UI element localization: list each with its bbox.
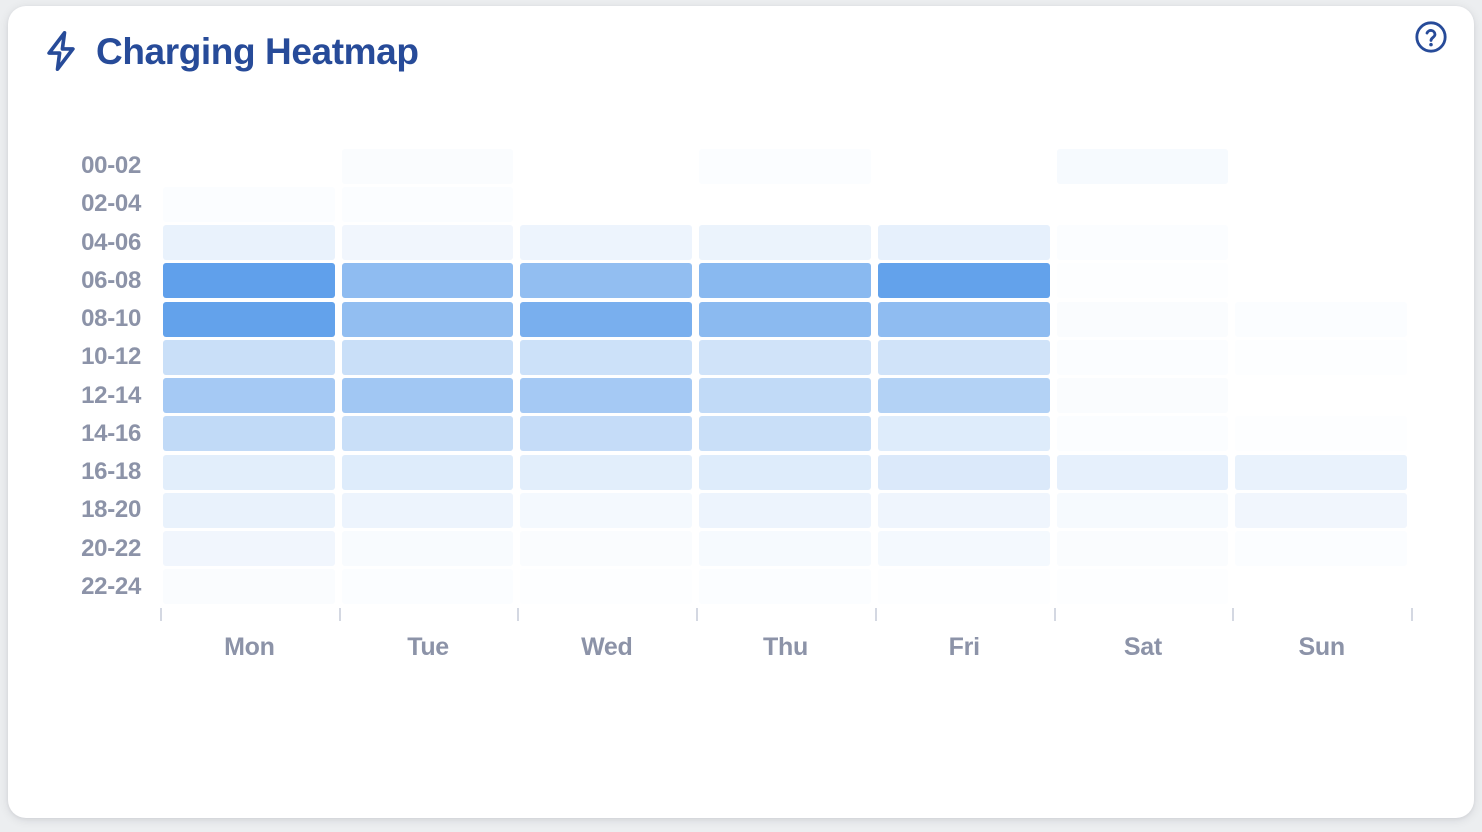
heatmap-cell[interactable] — [878, 416, 1050, 451]
heatmap-cell[interactable] — [1235, 187, 1407, 222]
y-axis-labels: 00-0202-0404-0606-0808-1010-1212-1414-16… — [8, 147, 141, 606]
x-axis-tick — [875, 608, 877, 621]
heatmap-cell[interactable] — [699, 302, 871, 337]
heatmap-column-wed — [517, 147, 696, 606]
y-axis-label: 02-04 — [81, 185, 141, 223]
heatmap-cell[interactable] — [163, 149, 335, 184]
heatmap-cell[interactable] — [878, 531, 1050, 566]
heatmap-cell[interactable] — [520, 455, 692, 490]
heatmap-cell[interactable] — [878, 187, 1050, 222]
heatmap-cell[interactable] — [163, 187, 335, 222]
heatmap-cell[interactable] — [342, 263, 514, 298]
heatmap-column-sat — [1054, 147, 1233, 606]
page-title: Charging Heatmap — [96, 33, 419, 70]
y-axis-label: 04-06 — [81, 224, 141, 262]
heatmap-cell[interactable] — [520, 531, 692, 566]
heatmap-cell[interactable] — [342, 416, 514, 451]
charging-heatmap-card: Charging Heatmap 00-0202-0404-0606-0808-… — [8, 6, 1474, 818]
heatmap-cell[interactable] — [878, 225, 1050, 260]
heatmap-cell[interactable] — [520, 569, 692, 604]
card-header: Charging Heatmap — [8, 6, 1474, 110]
heatmap-cell[interactable] — [1235, 263, 1407, 298]
heatmap-cell[interactable] — [163, 493, 335, 528]
heatmap-cell[interactable] — [342, 149, 514, 184]
heatmap-cell[interactable] — [878, 569, 1050, 604]
heatmap-cell[interactable] — [1057, 187, 1229, 222]
heatmap-chart: 00-0202-0404-0606-0808-1010-1212-1414-16… — [8, 110, 1474, 710]
heatmap-cell[interactable] — [699, 569, 871, 604]
y-axis-label: 22-24 — [81, 568, 141, 606]
heatmap-cell[interactable] — [1057, 225, 1229, 260]
heatmap-cell[interactable] — [699, 225, 871, 260]
x-axis-label-wed: Wed — [517, 624, 696, 670]
heatmap-cell[interactable] — [520, 225, 692, 260]
heatmap-cell[interactable] — [1235, 340, 1407, 375]
x-axis-tick — [517, 608, 519, 621]
heatmap-column-sun — [1232, 147, 1411, 606]
heatmap-cell[interactable] — [1057, 302, 1229, 337]
heatmap-cell[interactable] — [1057, 569, 1229, 604]
heatmap-cell[interactable] — [1235, 149, 1407, 184]
x-axis-label-sat: Sat — [1054, 624, 1233, 670]
heatmap-cell[interactable] — [1235, 302, 1407, 337]
x-axis-tick — [696, 608, 698, 621]
heatmap-cell[interactable] — [1235, 569, 1407, 604]
y-axis-label: 18-20 — [81, 491, 141, 529]
heatmap-cell[interactable] — [878, 455, 1050, 490]
heatmap-cell[interactable] — [342, 302, 514, 337]
y-axis-label: 06-08 — [81, 262, 141, 300]
heatmap-column-tue — [339, 147, 518, 606]
heatmap-cell[interactable] — [1235, 455, 1407, 490]
heatmap-cell[interactable] — [1057, 263, 1229, 298]
heatmap-cell[interactable] — [520, 263, 692, 298]
heatmap-cell[interactable] — [163, 225, 335, 260]
lightning-bolt-icon — [44, 30, 78, 72]
y-axis-label: 00-02 — [81, 147, 141, 185]
heatmap-cell[interactable] — [1235, 493, 1407, 528]
x-axis-line — [160, 606, 1411, 607]
y-axis-label: 08-10 — [81, 300, 141, 338]
heatmap-cell[interactable] — [1235, 531, 1407, 566]
heatmap-column-mon — [160, 147, 339, 606]
heatmap-cell[interactable] — [878, 149, 1050, 184]
x-axis-label-fri: Fri — [875, 624, 1054, 670]
x-axis-tick — [1054, 608, 1056, 621]
heatmap-cell[interactable] — [878, 302, 1050, 337]
heatmap-cell[interactable] — [163, 416, 335, 451]
heatmap-cell[interactable] — [520, 340, 692, 375]
heatmap-cell[interactable] — [1057, 340, 1229, 375]
help-circle-icon[interactable] — [1414, 20, 1448, 54]
heatmap-cell[interactable] — [163, 378, 335, 413]
x-axis-tick — [1232, 608, 1234, 621]
y-axis-label: 20-22 — [81, 530, 141, 568]
title-group: Charging Heatmap — [44, 30, 419, 72]
heatmap-cell[interactable] — [878, 263, 1050, 298]
heatmap-cell[interactable] — [699, 455, 871, 490]
heatmap-column-thu — [696, 147, 875, 606]
heatmap-cell[interactable] — [520, 493, 692, 528]
heatmap-cell[interactable] — [342, 340, 514, 375]
heatmap-cell[interactable] — [699, 531, 871, 566]
heatmap-cell[interactable] — [520, 416, 692, 451]
x-axis-tick — [339, 608, 341, 621]
heatmap-cell[interactable] — [699, 149, 871, 184]
heatmap-cell[interactable] — [163, 302, 335, 337]
heatmap-cell[interactable] — [1235, 416, 1407, 451]
x-axis-tick — [160, 608, 162, 621]
x-axis-label-thu: Thu — [696, 624, 875, 670]
y-axis-label: 16-18 — [81, 453, 141, 491]
heatmap-cell[interactable] — [342, 531, 514, 566]
heatmap-cell[interactable] — [1057, 378, 1229, 413]
heatmap-cell[interactable] — [1057, 455, 1229, 490]
heatmap-cell[interactable] — [163, 263, 335, 298]
x-axis-label-mon: Mon — [160, 624, 339, 670]
y-axis-label: 12-14 — [81, 377, 141, 415]
heatmap-cell[interactable] — [520, 302, 692, 337]
x-axis-tick — [1411, 608, 1413, 621]
heatmap-cell[interactable] — [342, 187, 514, 222]
heatmap-cell[interactable] — [520, 378, 692, 413]
x-axis-labels: MonTueWedThuFriSatSun — [160, 624, 1411, 670]
heatmap-cell[interactable] — [1235, 378, 1407, 413]
heatmap-cell[interactable] — [1057, 531, 1229, 566]
heatmap-cell[interactable] — [699, 340, 871, 375]
heatmap-grid — [160, 147, 1411, 606]
y-axis-label: 10-12 — [81, 338, 141, 376]
y-axis-label: 14-16 — [81, 415, 141, 453]
heatmap-cell[interactable] — [520, 149, 692, 184]
heatmap-cell[interactable] — [878, 340, 1050, 375]
heatmap-cell[interactable] — [699, 187, 871, 222]
heatmap-cell[interactable] — [699, 378, 871, 413]
heatmap-cell[interactable] — [699, 493, 871, 528]
heatmap-cell[interactable] — [1235, 225, 1407, 260]
heatmap-cell[interactable] — [878, 378, 1050, 413]
heatmap-cell[interactable] — [342, 225, 514, 260]
x-axis-label-tue: Tue — [339, 624, 518, 670]
heatmap-cell[interactable] — [699, 263, 871, 298]
heatmap-cell[interactable] — [342, 569, 514, 604]
heatmap-cell[interactable] — [163, 531, 335, 566]
heatmap-cell[interactable] — [699, 416, 871, 451]
heatmap-cell[interactable] — [342, 493, 514, 528]
heatmap-cell[interactable] — [163, 569, 335, 604]
x-axis-label-sun: Sun — [1232, 624, 1411, 670]
heatmap-column-fri — [875, 147, 1054, 606]
heatmap-cell[interactable] — [163, 340, 335, 375]
heatmap-cell[interactable] — [342, 378, 514, 413]
heatmap-cell[interactable] — [342, 455, 514, 490]
heatmap-cell[interactable] — [878, 493, 1050, 528]
heatmap-cell[interactable] — [520, 187, 692, 222]
heatmap-cell[interactable] — [1057, 416, 1229, 451]
heatmap-cell[interactable] — [1057, 493, 1229, 528]
heatmap-cell[interactable] — [163, 455, 335, 490]
heatmap-cell[interactable] — [1057, 149, 1229, 184]
